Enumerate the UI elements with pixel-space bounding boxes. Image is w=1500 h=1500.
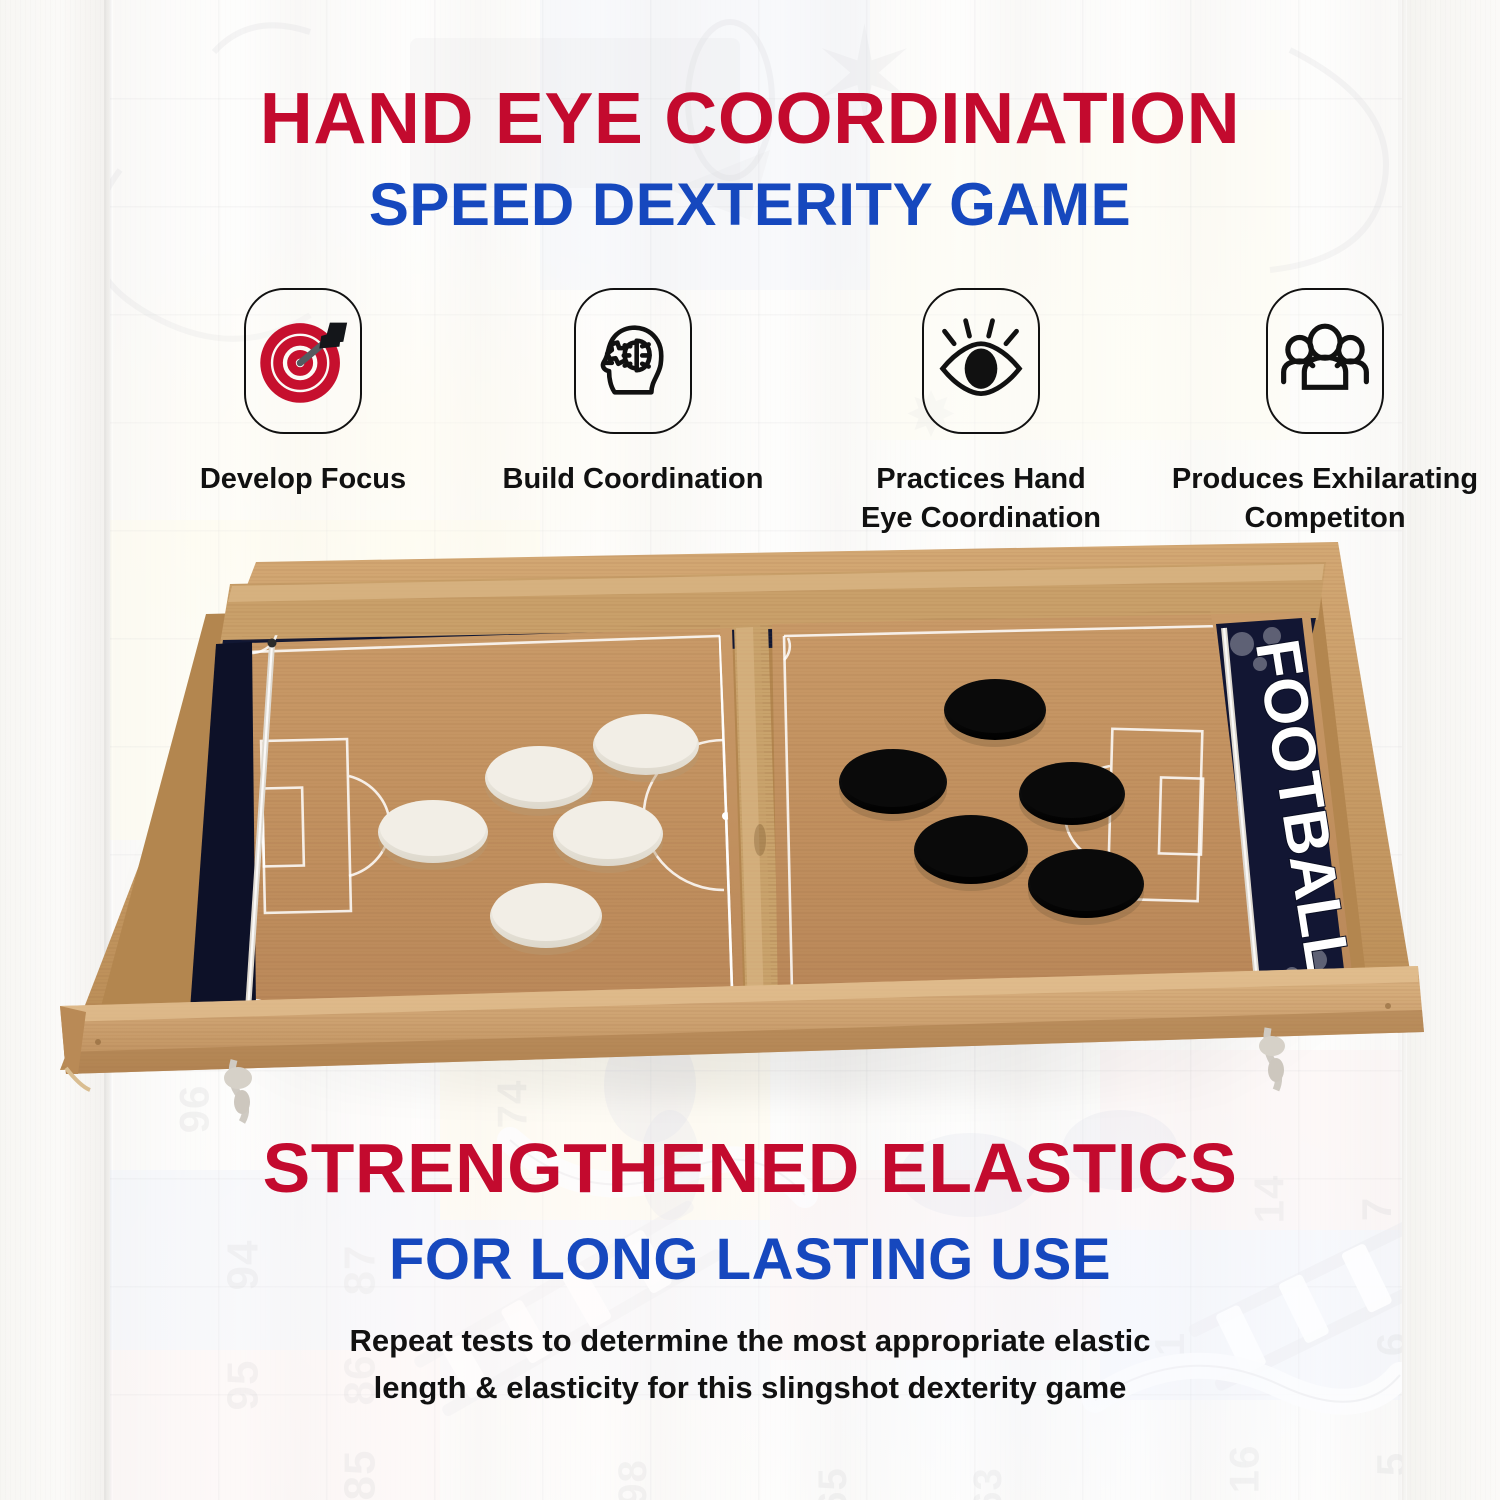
product-image: FOOTBALL bbox=[20, 540, 1480, 1140]
feature-label-l1: Practices Hand bbox=[876, 463, 1086, 495]
feature-label-l1: Produces Exhilarating bbox=[1172, 463, 1478, 495]
footer-desc-line1: Repeat tests to determine the most appro… bbox=[0, 1318, 1500, 1365]
feature-label-l2: Eye Coordination bbox=[861, 502, 1101, 534]
feature-icon-frame bbox=[244, 288, 362, 434]
footer-desc-line2: length & elasticity for this slingshot d… bbox=[0, 1365, 1500, 1412]
slingshot-football-board: FOOTBALL bbox=[20, 540, 1480, 1140]
footer-headline-secondary: FOR LONG LASTING USE bbox=[0, 1226, 1500, 1293]
headline-secondary: SPEED DEXTERITY GAME bbox=[0, 170, 1500, 239]
feature-build-coordination: Build Coordination bbox=[463, 288, 803, 499]
group-people-icon bbox=[1278, 314, 1372, 408]
feature-label: Produces Exhilarating Competiton bbox=[1149, 460, 1500, 538]
subheadline-block: SPEED DEXTERITY GAME bbox=[0, 170, 1500, 239]
headline-primary: HAND EYE COORDINATION bbox=[0, 78, 1500, 160]
feature-label: Build Coordination bbox=[463, 460, 803, 499]
feature-label: Practices Hand Eye Coordination bbox=[813, 460, 1149, 538]
product-infographic: ✶ ✸ ✸ ✸ bbox=[0, 0, 1500, 1500]
brain-head-gear-icon bbox=[587, 315, 679, 407]
headline-block: HAND EYE COORDINATION bbox=[0, 78, 1500, 160]
elastic-knot-right bbox=[1259, 1028, 1285, 1090]
feature-icon-frame bbox=[574, 288, 692, 434]
footer-headline-primary: STRENGTHENED ELASTICS bbox=[0, 1128, 1500, 1208]
feature-label-l2: Competiton bbox=[1244, 502, 1405, 534]
footer-headline-block: STRENGTHENED ELASTICS bbox=[0, 1128, 1500, 1208]
feature-produces-competition: Produces Exhilarating Competiton bbox=[1149, 288, 1500, 538]
footer-subheadline-block: FOR LONG LASTING USE bbox=[0, 1226, 1500, 1293]
feature-develop-focus: Develop Focus bbox=[143, 288, 463, 499]
elastic-knot-left bbox=[224, 1060, 252, 1122]
eye-icon bbox=[933, 313, 1029, 409]
feature-icon-frame bbox=[922, 288, 1040, 434]
feature-icon-frame bbox=[1266, 288, 1384, 434]
feature-practices-hand-eye: Practices Hand Eye Coordination bbox=[813, 288, 1149, 538]
target-dartboard-icon bbox=[255, 313, 351, 409]
feature-row: Develop Focus Build bbox=[95, 288, 1415, 568]
feature-label: Develop Focus bbox=[143, 460, 463, 499]
footer-description-block: Repeat tests to determine the most appro… bbox=[0, 1318, 1500, 1411]
